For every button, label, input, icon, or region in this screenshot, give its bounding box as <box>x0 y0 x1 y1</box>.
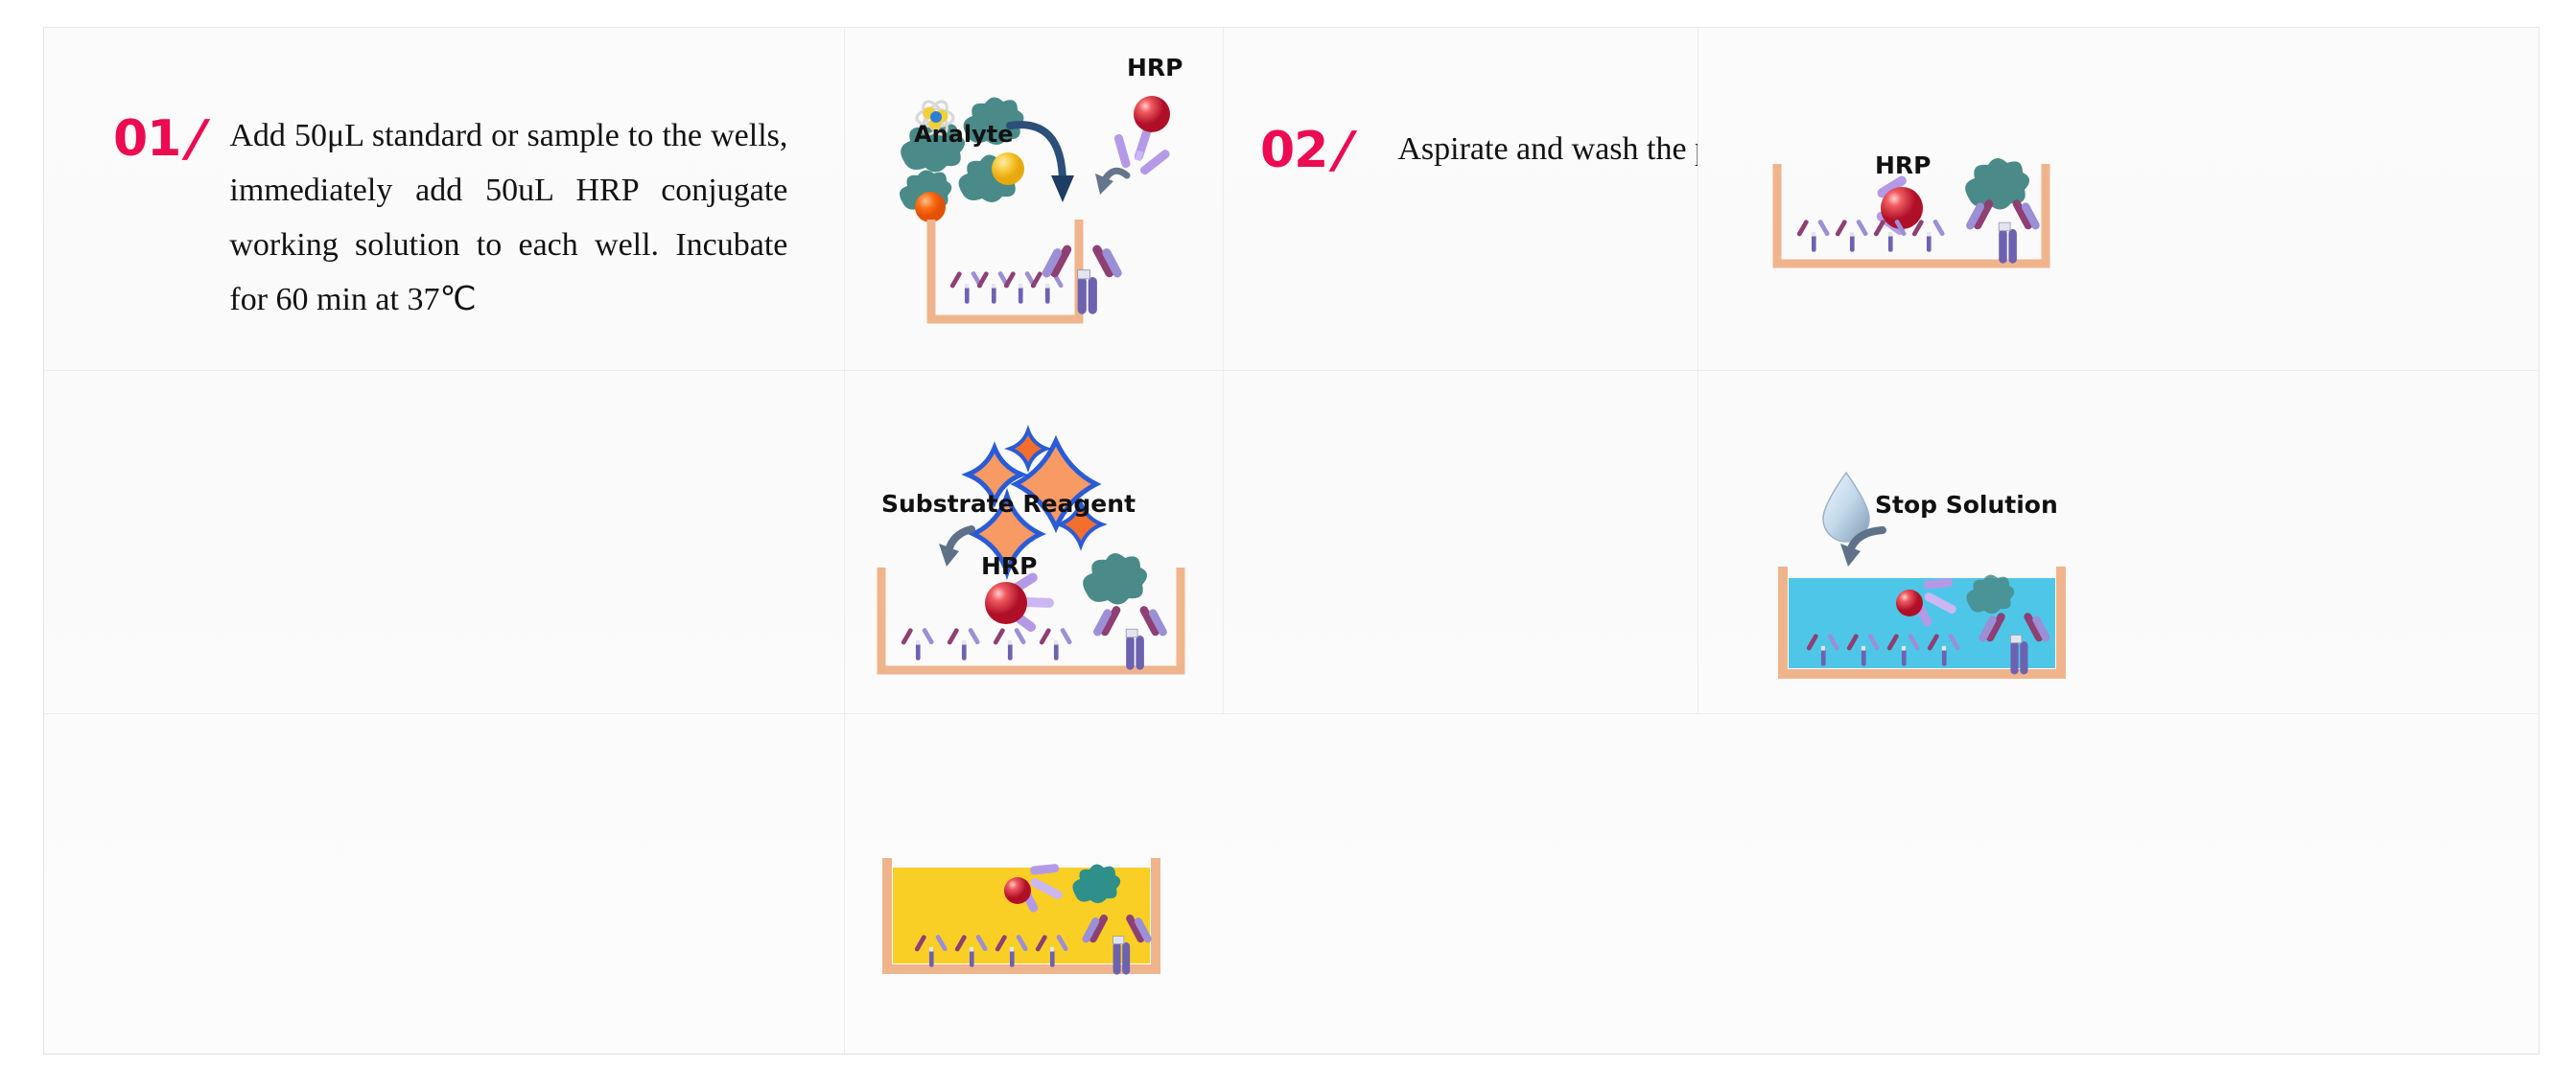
recommendation-cell: It is recommended to use OriginPro2022 (… <box>1224 714 2538 1054</box>
step-02-slash: / <box>1328 126 1358 175</box>
step-01-slash: / <box>181 114 211 164</box>
capture-antibody-icon <box>901 605 1168 670</box>
step-02-number: 02/ <box>1260 126 1351 175</box>
step-02-text-cell: 02/ Aspirate and wash the plate for 3 ti… <box>1224 28 1698 371</box>
step-05-illustration <box>872 854 1179 985</box>
analyte-blob-icon <box>1083 553 1147 605</box>
microplate-well-icon <box>931 220 1123 319</box>
hrp-sphere-icon <box>985 582 1027 624</box>
step-03-text-cell: 03/ Add 100μL Substrate Reagent. Incubat… <box>44 371 845 714</box>
step-01-number: 01/ <box>113 114 204 164</box>
hrp-sphere-icon <box>1881 187 1923 229</box>
protocol-grid: 01/ Add 50μL standard or sample to the w… <box>43 27 2540 1055</box>
step-01-block: 01/ Add 50μL standard or sample to the w… <box>113 108 787 327</box>
analyte-cluster-icon <box>900 97 1024 222</box>
step-05-text-cell: 05/ Read the plate at 450nm immediately.… <box>44 714 845 1054</box>
step-01-description: Add 50μL standard or sample to the wells… <box>229 108 787 327</box>
step-03-illustration-cell: Substrate Reagent HRP <box>845 371 1224 714</box>
capture-antibody-icon <box>949 244 1123 314</box>
step-02-illustration: HRP <box>1768 143 2065 315</box>
step-01-illustration-cell: Analyte HRP <box>845 28 1224 371</box>
hrp-sphere-icon <box>1004 877 1031 904</box>
hrp-label-step1: HRP <box>1127 54 1183 81</box>
step-04-illustration-cell: Stop Solution <box>1698 371 2538 714</box>
stop-solution-label: Stop Solution <box>1875 491 2058 519</box>
substrate-reagent-label: Substrate Reagent <box>881 490 1136 518</box>
step-02-block: 02/ Aspirate and wash the plate for 3 ti… <box>1260 122 1698 176</box>
step-04-illustration: Stop Solution <box>1766 459 2073 699</box>
curved-arrow-icon <box>939 529 972 567</box>
step-01-text-cell: 01/ Add 50μL standard or sample to the w… <box>44 28 845 371</box>
hrp-sphere-icon <box>1134 96 1170 132</box>
small-curved-arrow-icon <box>1095 171 1127 195</box>
step-02-description: Aspirate and wash the plate for 3 times. <box>1397 122 1698 176</box>
step-02-illustration-cell: HRP <box>1698 28 2538 371</box>
step-04-text-cell: 04/ Add 50μL Stop Solution <box>1224 371 1698 714</box>
hrp-label-step2: HRP <box>1875 151 1932 179</box>
analyte-label: Analyte <box>914 121 1013 148</box>
step-03-illustration: Substrate Reagent HRP <box>868 409 1194 683</box>
step-05-illustration-cell <box>845 714 1224 1054</box>
step-01-illustration: Analyte HRP <box>866 49 1206 356</box>
hrp-sphere-icon <box>1896 590 1923 616</box>
